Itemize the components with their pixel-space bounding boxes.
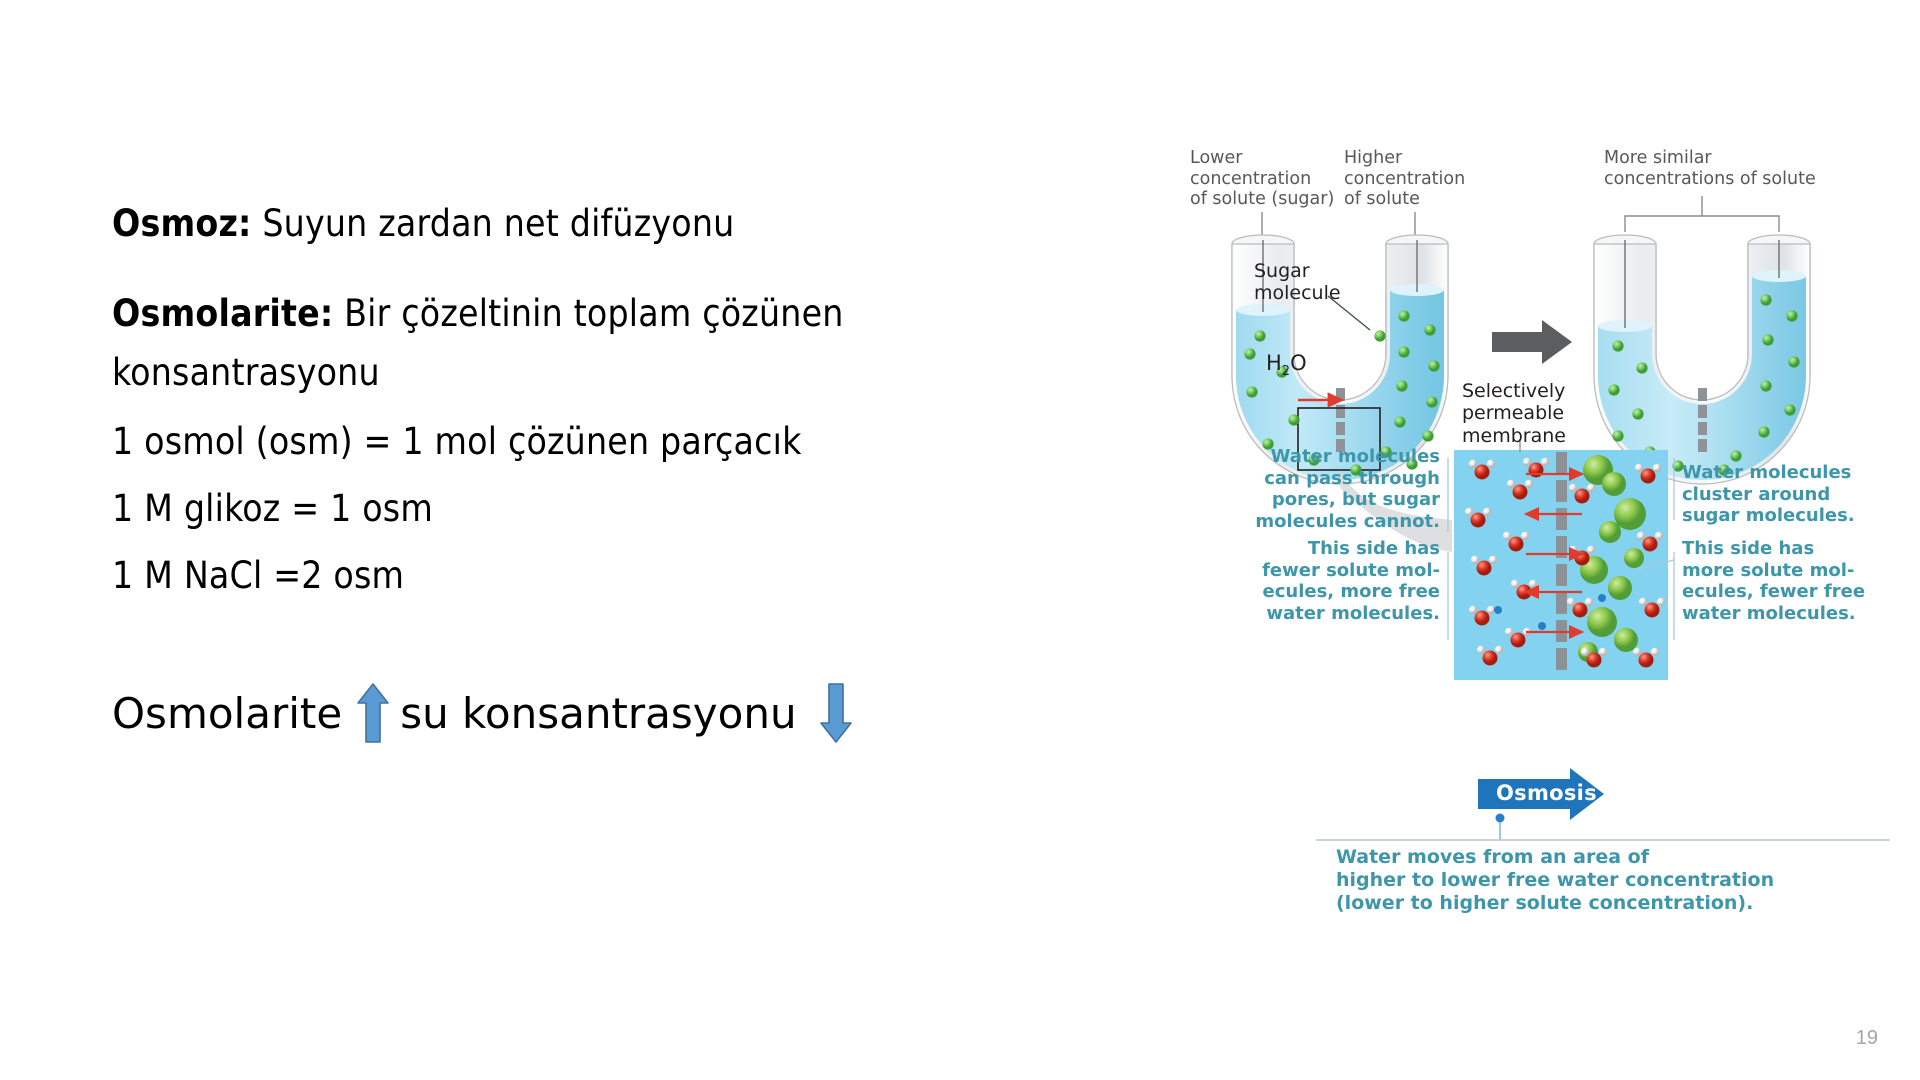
label-sugar-molecule: Sugar molecule: [1254, 260, 1364, 305]
h2o-subscript: 2: [1282, 364, 1290, 379]
osmosis-banner-label: Osmosis: [1496, 781, 1597, 805]
spacer: [112, 460, 992, 490]
conclusion-part-1: Osmolarite: [112, 689, 342, 738]
osmoz-definition: Suyun zardan net difüzyonu: [252, 202, 735, 245]
text-line-konsantrasyonu: konsantrasyonu: [112, 354, 992, 391]
text-line-osmoz: Osmoz: Suyun zardan net difüzyonu: [112, 205, 992, 242]
text-line-nacl: 1 M NaCl =2 osm: [112, 557, 992, 594]
label-lower-concentration: Lower concentration of solute (sugar): [1190, 148, 1350, 210]
osmolarite-definition: Bir çözeltinin toplam çözünen: [333, 292, 843, 335]
text-line-osmolarite: Osmolarite: Bir çözeltinin toplam çözüne…: [112, 295, 992, 332]
text-line-osmol: 1 osmol (osm) = 1 mol çözünen parçacık: [112, 423, 992, 460]
label-h2o: H2O: [1266, 326, 1307, 379]
label-more-solute-side: This side has more solute mol- ecules, f…: [1682, 538, 1908, 624]
page-number: 19: [1856, 1027, 1878, 1050]
spacer: [112, 527, 992, 557]
osmolarite-label: Osmolarite:: [112, 292, 333, 335]
label-water-pass-through: Water molecules can pass through pores, …: [1216, 446, 1440, 532]
slide-canvas: Osmoz: Suyun zardan net difüzyonu Osmola…: [0, 0, 1920, 1080]
caption-water-movement: Water moves from an area of higher to lo…: [1336, 846, 1856, 914]
osmosis-diagram: Lower concentration of solute (sugar) Hi…: [1190, 140, 1910, 940]
label-selectively-permeable-membrane: Selectively permeable membrane: [1462, 380, 1612, 447]
process-arrow-icon: [1492, 320, 1572, 364]
h2o-o: O: [1290, 351, 1307, 375]
text-line-glikoz: 1 M glikoz = 1 osm: [112, 490, 992, 527]
spacer: [112, 594, 992, 682]
label-water-cluster: Water molecules cluster around sugar mol…: [1682, 462, 1902, 527]
spacer: [112, 391, 992, 423]
h2o-h: H: [1266, 351, 1282, 375]
label-more-similar-concentrations: More similar concentrations of solute: [1604, 148, 1834, 189]
spacer: [112, 242, 992, 295]
label-fewer-solute-side: This side has fewer solute mol- ecules, …: [1208, 538, 1440, 624]
text-line-conclusion: Osmolarite su konsantrasyonu: [112, 682, 992, 744]
conclusion-part-2: su konsantrasyonu: [400, 689, 796, 738]
down-arrow-icon: [819, 682, 853, 744]
label-higher-concentration: Higher concentration of solute: [1344, 148, 1494, 210]
body-text-block: Osmoz: Suyun zardan net difüzyonu Osmola…: [112, 205, 992, 744]
up-arrow-icon: [356, 682, 390, 744]
osmoz-label: Osmoz:: [112, 202, 252, 245]
